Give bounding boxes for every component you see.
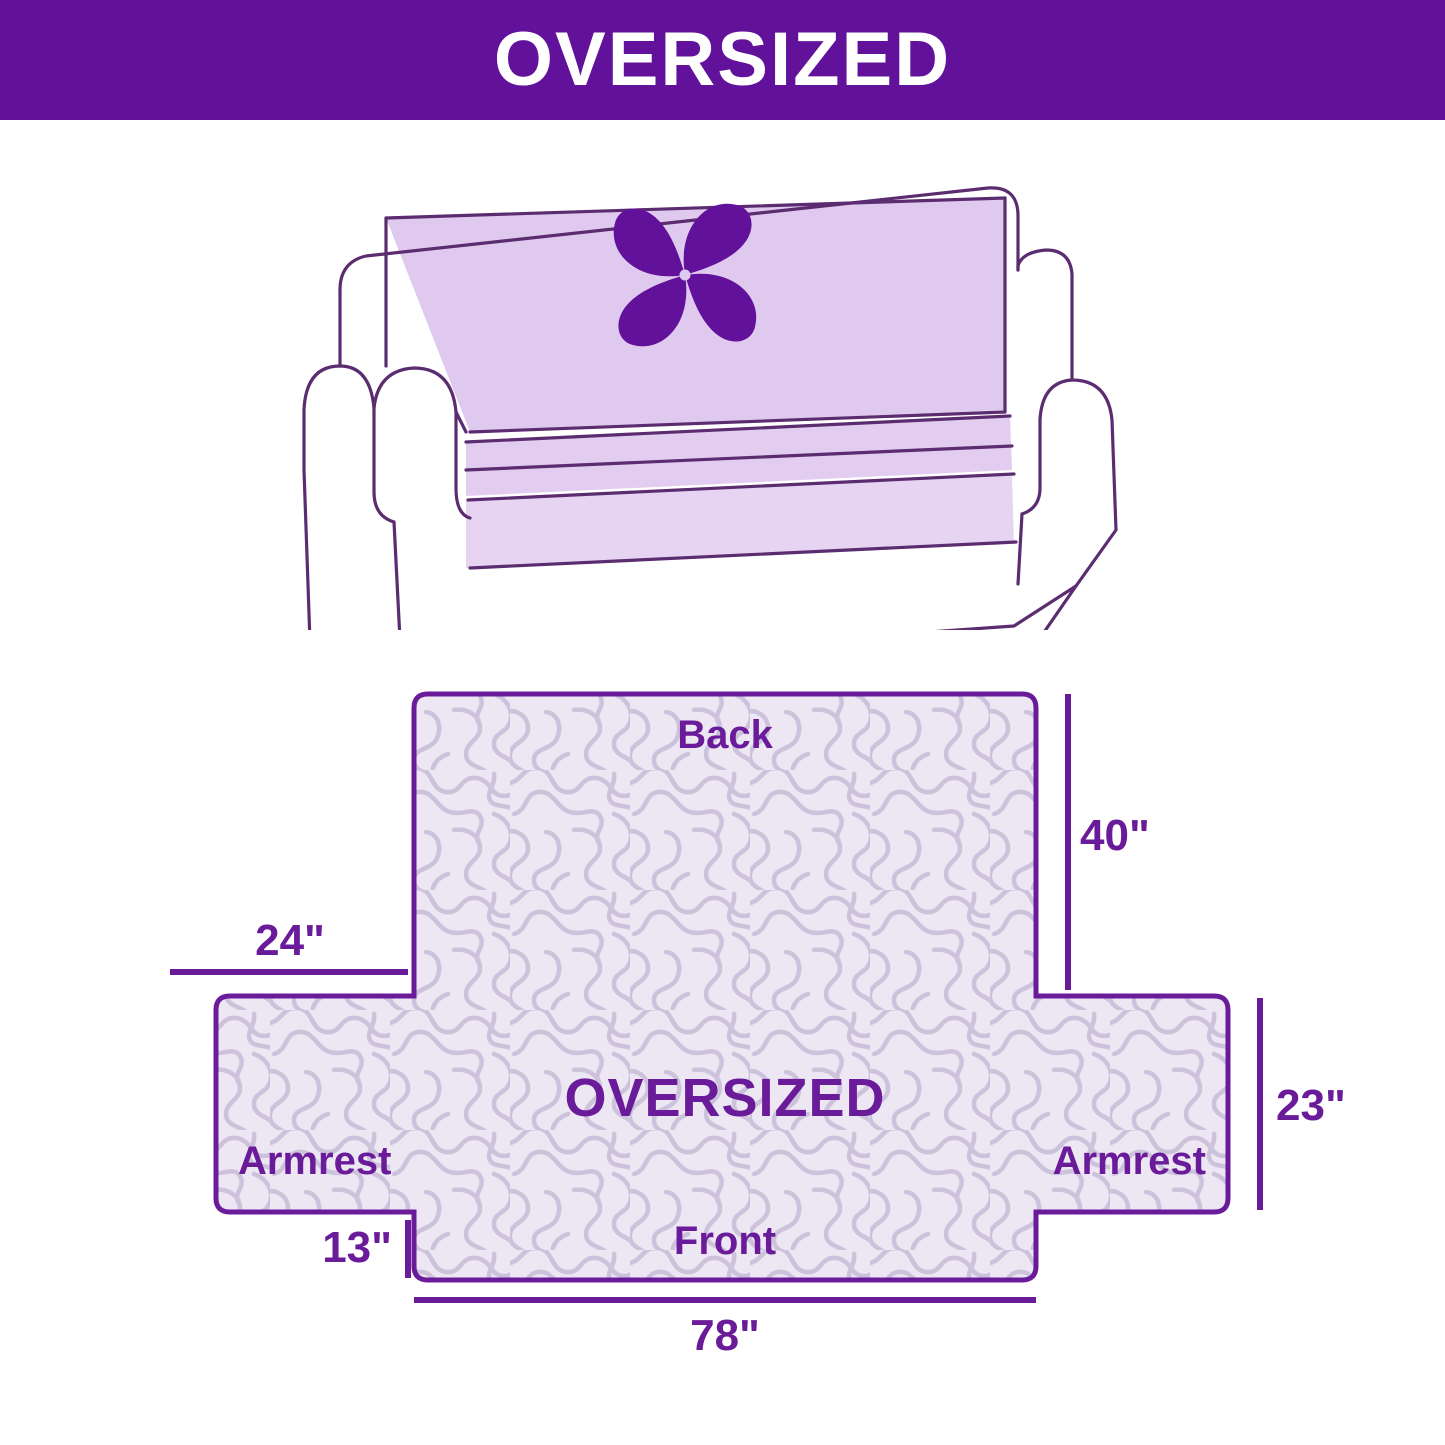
panel-label-front: Front [674, 1219, 776, 1263]
page-title: OVERSIZED [494, 22, 951, 98]
sofa-illustration [270, 170, 1190, 630]
product-size-chart-page: OVERSIZED [0, 0, 1445, 1445]
panel-label-armrest-right: Armrest [1053, 1139, 1206, 1183]
dimension-label-23: 23" [1276, 1081, 1346, 1130]
header-banner: OVERSIZED [0, 0, 1445, 120]
panel-label-armrest-left: Armrest [238, 1139, 391, 1183]
dimension-label-24: 24" [255, 916, 325, 965]
dimension-label-78: 78" [690, 1311, 760, 1360]
dimension-label-13: 13" [322, 1223, 392, 1272]
pattern-diagram: 40" 24" 23" 13" 78" Back Armrest Armrest… [150, 650, 1400, 1370]
panel-label-back: Back [677, 713, 773, 757]
pattern-center-label: OVERSIZED [564, 1068, 885, 1128]
dimension-label-40: 40" [1080, 811, 1150, 860]
